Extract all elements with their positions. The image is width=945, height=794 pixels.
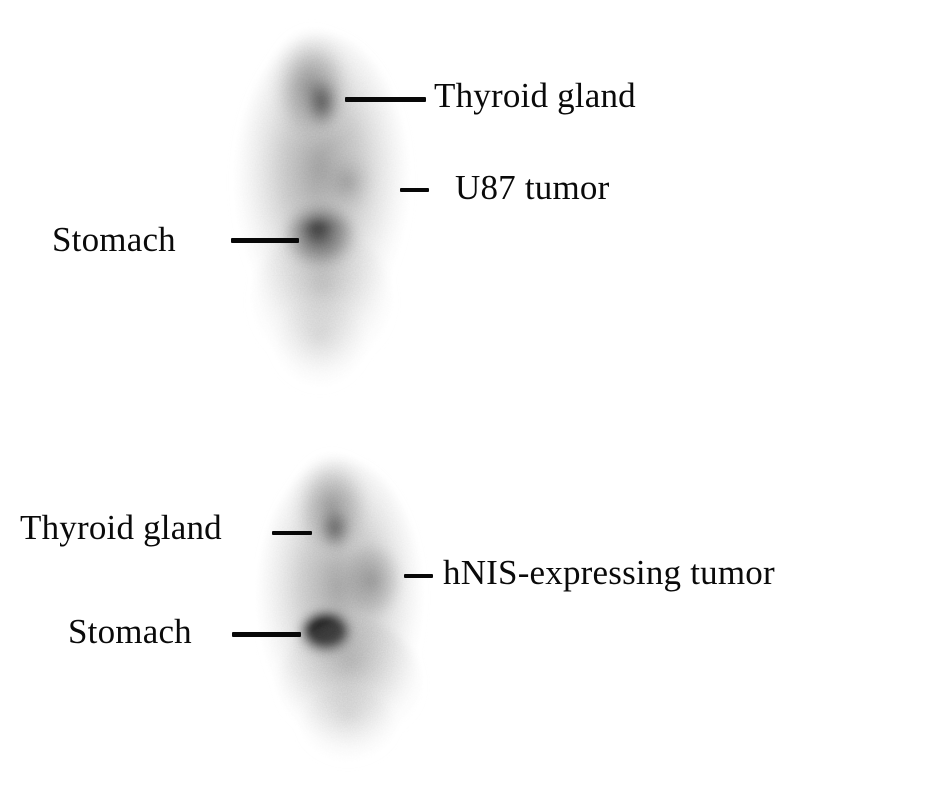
leader-line-stomach-top <box>231 238 299 243</box>
leader-line-hnis-tumor <box>404 574 433 578</box>
upper-scintigraphy-scan <box>170 10 500 410</box>
leader-line-u87-tumor <box>400 188 429 192</box>
scintigraphy-figure: Thyroid gland U87 tumor Stomach Thyroid … <box>0 0 945 794</box>
leader-line-stomach-bottom <box>232 632 301 637</box>
leader-line-thyroid-gland-bottom <box>272 531 312 535</box>
lower-scintigraphy-scan <box>200 440 540 790</box>
label-stomach-top: Stomach <box>52 222 176 257</box>
label-thyroid-gland-top: Thyroid gland <box>434 78 636 113</box>
label-hnis-expressing-tumor: hNIS-expressing tumor <box>443 555 775 590</box>
label-stomach-bottom: Stomach <box>68 614 192 649</box>
leader-line-thyroid-gland-top <box>345 97 426 102</box>
label-u87-tumor: U87 tumor <box>455 170 609 205</box>
label-thyroid-gland-bottom: Thyroid gland <box>20 510 222 545</box>
